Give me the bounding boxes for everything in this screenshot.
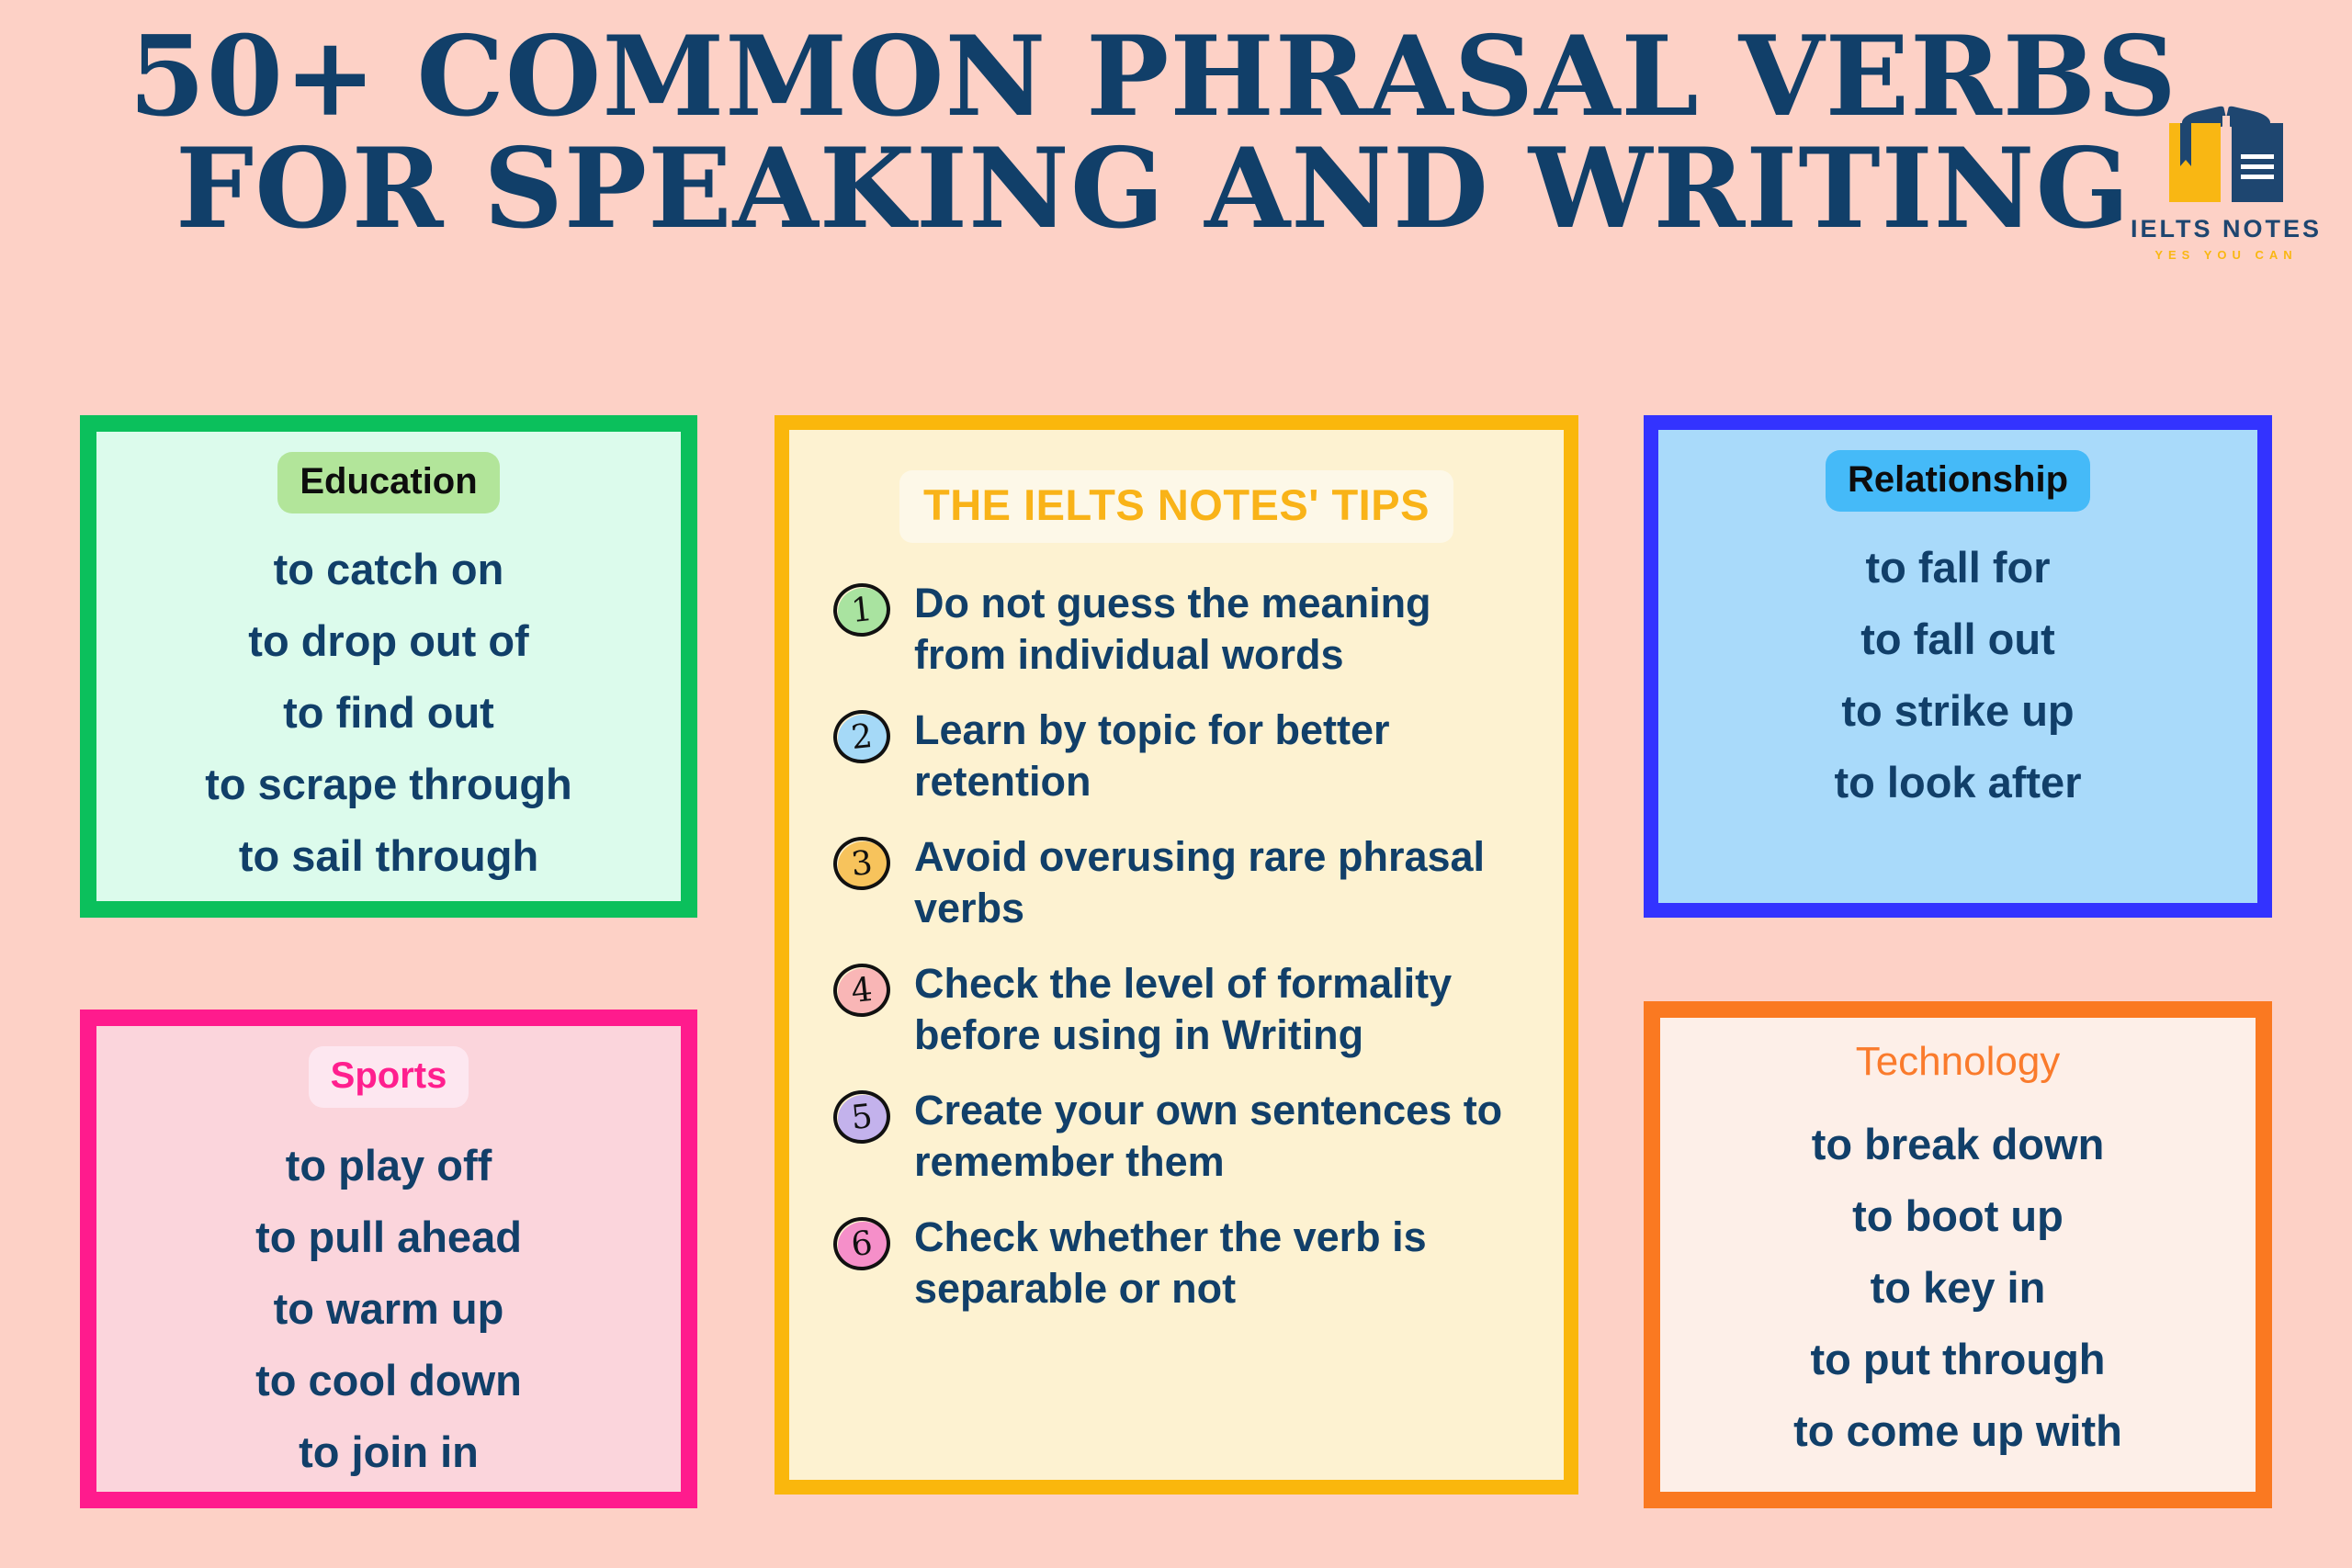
title-line-1: 50+ COMMON PHRASAL VERBS: [110, 26, 2196, 129]
page-title: 50+ COMMON PHRASAL VERBS FOR SPEAKING AN…: [110, 26, 2196, 241]
verb-list-education: to catch on to drop out of to find out t…: [205, 534, 572, 892]
list-item: to cool down: [255, 1345, 522, 1416]
category-badge-relationship: Relationship: [1826, 450, 2090, 512]
tip-item: 1 Do not guess the meaning from individu…: [833, 578, 1532, 681]
tip-text: Learn by topic for better retention: [914, 705, 1532, 807]
tip-number-badge-3: 3: [833, 837, 894, 894]
header: 50+ COMMON PHRASAL VERBS FOR SPEAKING AN…: [0, 0, 2352, 349]
tip-item: 4 Check the level of formality before us…: [833, 958, 1532, 1061]
tips-heading: THE IELTS NOTES' TIPS: [899, 470, 1453, 543]
logo-tagline: YES YOU CAN: [2120, 248, 2332, 262]
tip-number-badge-1: 1: [833, 583, 894, 640]
tip-number-badge-5: 5: [833, 1090, 894, 1147]
brand-logo: IELTS NOTES YES YOU CAN: [2120, 108, 2332, 262]
tip-number-label: 1: [831, 581, 893, 639]
list-item: to look after: [1835, 747, 2082, 818]
tip-number-badge-6: 6: [833, 1217, 894, 1274]
tip-text: Check the level of formality before usin…: [914, 958, 1532, 1061]
category-card-relationship: Relationship to fall for to fall out to …: [1644, 415, 2272, 918]
tip-number-label: 2: [831, 707, 893, 766]
category-badge-sports: Sports: [309, 1046, 469, 1108]
list-item: to play off: [255, 1130, 522, 1201]
list-item: to break down: [1793, 1109, 2122, 1180]
tip-number-badge-2: 2: [833, 710, 894, 767]
tip-item: 3 Avoid overusing rare phrasal verbs: [833, 831, 1532, 934]
list-item: to come up with: [1793, 1395, 2122, 1467]
tip-text: Create your own sentences to remember th…: [914, 1085, 1532, 1188]
tips-card: THE IELTS NOTES' TIPS 1 Do not guess the…: [775, 415, 1578, 1495]
category-badge-technology: Technology: [1849, 1032, 2068, 1094]
list-item: to strike up: [1835, 675, 2082, 747]
list-item: to join in: [255, 1416, 522, 1488]
tip-item: 5 Create your own sentences to remember …: [833, 1085, 1532, 1188]
list-item: to boot up: [1793, 1180, 2122, 1252]
tips-list: 1 Do not guess the meaning from individu…: [820, 578, 1532, 1338]
tip-number-label: 3: [831, 834, 893, 893]
tip-text: Check whether the verb is separable or n…: [914, 1212, 1532, 1314]
tip-number-label: 4: [831, 961, 893, 1020]
list-item: to drop out of: [205, 605, 572, 677]
category-card-education: Education to catch on to drop out of to …: [80, 415, 697, 918]
tip-text: Avoid overusing rare phrasal verbs: [914, 831, 1532, 934]
list-item: to put through: [1793, 1324, 2122, 1395]
title-line-2: FOR SPEAKING AND WRITING: [110, 138, 2196, 241]
logo-name: IELTS NOTES: [2120, 215, 2332, 243]
verb-list-technology: to break down to boot up to key in to pu…: [1793, 1109, 2122, 1467]
tip-number-badge-4: 4: [833, 964, 894, 1021]
tip-text: Do not guess the meaning from individual…: [914, 578, 1532, 681]
list-item: to fall out: [1835, 604, 2082, 675]
list-item: to warm up: [255, 1273, 522, 1345]
list-item: to scrape through: [205, 749, 572, 820]
tip-item: 6 Check whether the verb is separable or…: [833, 1212, 1532, 1314]
verb-list-relationship: to fall for to fall out to strike up to …: [1835, 532, 2082, 818]
list-item: to key in: [1793, 1252, 2122, 1324]
list-item: to sail through: [205, 820, 572, 892]
category-card-sports: Sports to play off to pull ahead to warm…: [80, 1010, 697, 1508]
tip-number-label: 6: [831, 1214, 893, 1273]
list-item: to fall for: [1835, 532, 2082, 604]
list-item: to catch on: [205, 534, 572, 605]
open-book-icon: [2165, 108, 2287, 209]
list-item: to pull ahead: [255, 1201, 522, 1273]
category-card-technology: Technology to break down to boot up to k…: [1644, 1001, 2272, 1508]
tip-number-label: 5: [831, 1088, 893, 1146]
tip-item: 2 Learn by topic for better retention: [833, 705, 1532, 807]
verb-list-sports: to play off to pull ahead to warm up to …: [255, 1130, 522, 1488]
list-item: to find out: [205, 677, 572, 749]
category-badge-education: Education: [277, 452, 499, 513]
